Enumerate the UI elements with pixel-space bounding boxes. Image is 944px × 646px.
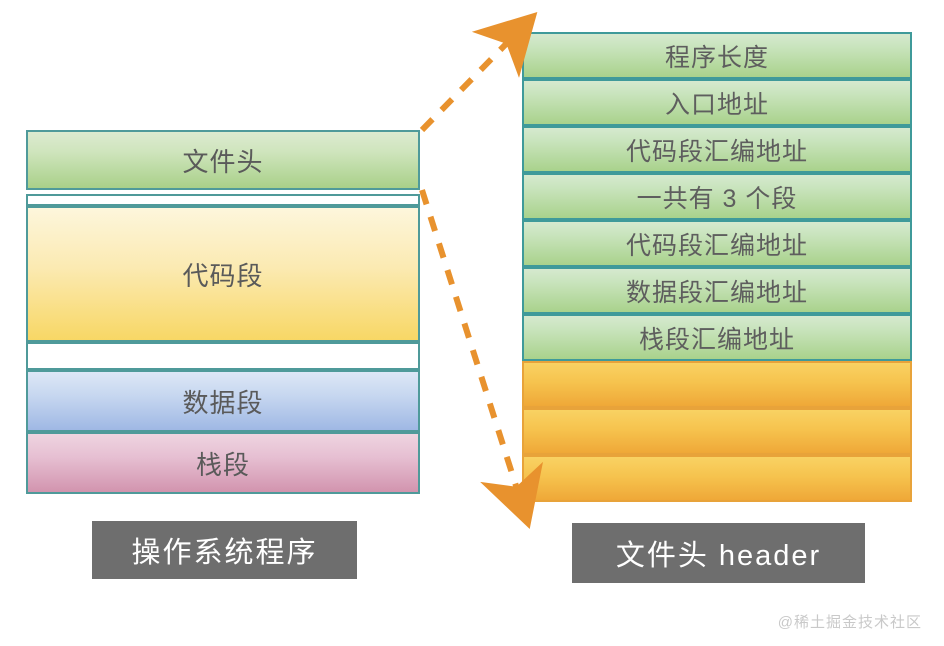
segment-gap-upper <box>26 194 420 206</box>
caption-operating-system-program: 操作系统程序 <box>92 521 357 579</box>
operating-system-program-stack: 文件头 代码段 数据段 栈段 <box>26 130 420 494</box>
segment-code-label: 代码段 <box>182 256 263 293</box>
segment-gap-lower <box>26 342 420 370</box>
segment-file-header: 文件头 <box>26 130 420 190</box>
header-field-segment-count: 一共有 3 个段 <box>522 173 912 220</box>
diagram-canvas: 文件头 代码段 数据段 栈段 程序长度 入口地址 代码段汇编地址 一共有 3 个… <box>0 0 944 646</box>
header-field-empty-3 <box>522 455 912 502</box>
header-field-empty-1 <box>522 361 912 408</box>
header-field-segment-count-label: 一共有 3 个段 <box>637 179 798 215</box>
header-field-code-segment-address-2: 代码段汇编地址 <box>522 220 912 267</box>
segment-data: 数据段 <box>26 370 420 432</box>
file-header-detail-stack: 程序长度 入口地址 代码段汇编地址 一共有 3 个段 代码段汇编地址 数据段汇编… <box>522 32 912 502</box>
arrow-header-to-detail-top <box>422 42 508 130</box>
header-field-stack-segment-address: 栈段汇编地址 <box>522 314 912 361</box>
arrow-header-to-detail-bottom <box>422 190 517 489</box>
header-field-entry-address: 入口地址 <box>522 79 912 126</box>
segment-code: 代码段 <box>26 206 420 342</box>
caption-file-header: 文件头 header <box>572 523 865 583</box>
header-field-entry-address-label: 入口地址 <box>665 85 769 121</box>
segment-stack: 栈段 <box>26 432 420 494</box>
header-field-program-length: 程序长度 <box>522 32 912 79</box>
caption-file-header-label: 文件头 header <box>616 532 821 574</box>
segment-file-header-label: 文件头 <box>182 142 263 179</box>
segment-stack-label: 栈段 <box>196 445 250 482</box>
header-field-data-segment-address: 数据段汇编地址 <box>522 267 912 314</box>
header-field-empty-2 <box>522 408 912 455</box>
watermark: @稀土掘金技术社区 <box>778 611 922 632</box>
header-field-program-length-label: 程序长度 <box>665 38 769 74</box>
header-field-code-segment-address-1: 代码段汇编地址 <box>522 126 912 173</box>
header-field-stack-segment-address-label: 栈段汇编地址 <box>639 320 795 356</box>
header-field-code-segment-address-2-label: 代码段汇编地址 <box>626 226 808 262</box>
header-field-data-segment-address-label: 数据段汇编地址 <box>626 273 808 309</box>
segment-data-label: 数据段 <box>182 383 263 420</box>
caption-operating-system-program-label: 操作系统程序 <box>131 529 317 571</box>
header-field-code-segment-address-1-label: 代码段汇编地址 <box>626 132 808 168</box>
